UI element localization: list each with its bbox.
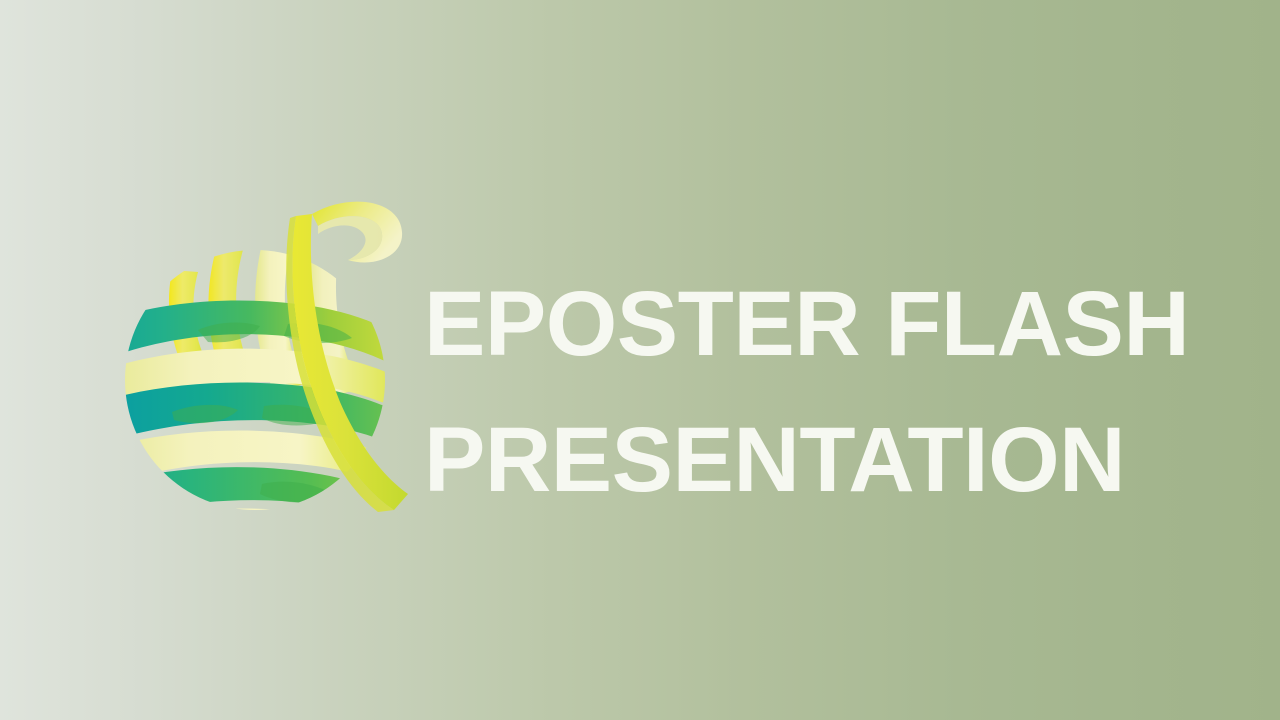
presentation-title-slide: EPOSTER FLASH PRESENTATION (0, 0, 1280, 720)
slide-title-line-2: PRESENTATION (424, 392, 1214, 528)
spiral-ribbon-globe-logo (112, 198, 412, 518)
globe-leaf-curl (286, 202, 408, 512)
globe-band-6 (112, 509, 412, 518)
slide-title-line-1: EPOSTER FLASH (424, 256, 1214, 392)
slide-title: EPOSTER FLASH PRESENTATION (424, 256, 1214, 528)
